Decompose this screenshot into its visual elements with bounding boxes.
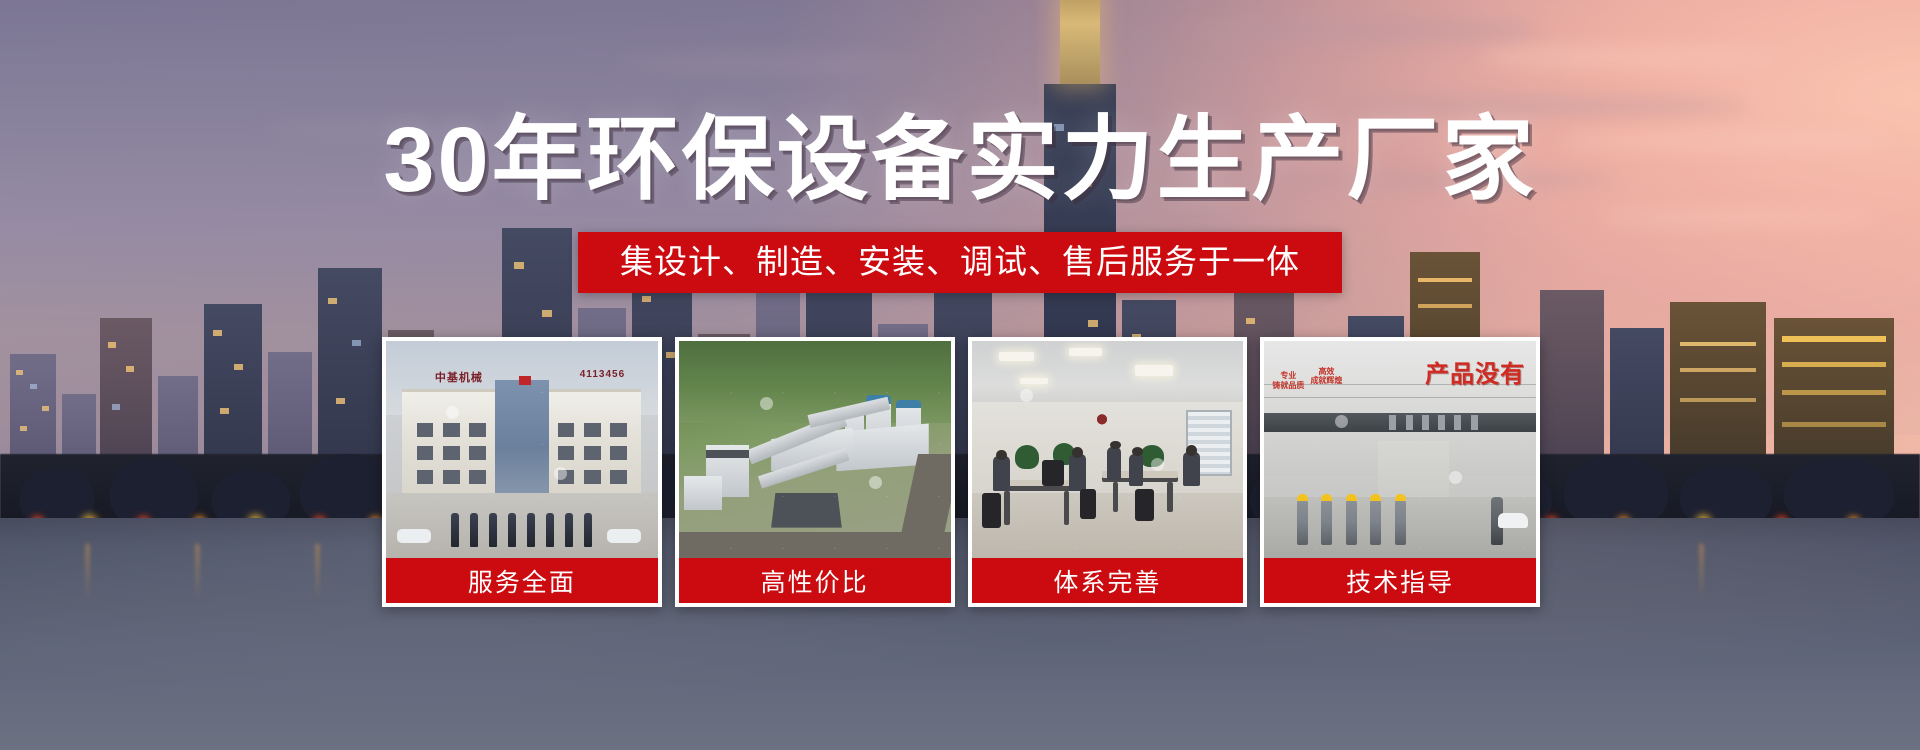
feature-card[interactable]: 产品没有 专业 铸就品质 高效 成就辉煌 bbox=[1260, 337, 1540, 607]
factory-slogan-2: 高效 bbox=[1318, 367, 1334, 376]
feature-card-row: 中基机械 4113456 服务全面 bbox=[382, 337, 1540, 607]
cloud bbox=[1180, 18, 1540, 44]
subtitle-banner: 集设计、制造、安装、调试、售后服务于一体 bbox=[578, 232, 1342, 293]
factory-slogan-1: 专业 bbox=[1280, 371, 1296, 380]
feature-card[interactable]: 高性价比 bbox=[675, 337, 955, 607]
cloud bbox=[620, 54, 920, 72]
feature-card[interactable]: 中基机械 4113456 服务全面 bbox=[382, 337, 662, 607]
card-label: 体系完善 bbox=[972, 558, 1244, 603]
card-photo-factory-workers: 产品没有 专业 铸就品质 高效 成就辉煌 bbox=[1264, 341, 1536, 558]
subtitle-container: 集设计、制造、安装、调试、售后服务于一体 bbox=[0, 232, 1920, 293]
factory-slogan-large: 产品没有 bbox=[1425, 354, 1525, 389]
card-photo-industrial-plant bbox=[679, 341, 951, 558]
building-sign-text: 中基机械 bbox=[435, 369, 483, 385]
tower-lit-crown bbox=[1060, 0, 1100, 84]
factory-slogan-1-sub: 铸就品质 bbox=[1272, 381, 1304, 390]
card-label: 高性价比 bbox=[679, 558, 951, 603]
building-phone-text: 4113456 bbox=[580, 369, 625, 380]
cloud bbox=[1600, 210, 1880, 226]
page-title: 30年环保设备实力生产厂家 bbox=[0, 112, 1920, 209]
card-label: 技术指导 bbox=[1264, 558, 1536, 603]
factory-slogan-2-sub: 成就辉煌 bbox=[1310, 376, 1342, 385]
feature-card[interactable]: 体系完善 bbox=[968, 337, 1248, 607]
hero-banner: 30年环保设备实力生产厂家 集设计、制造、安装、调试、售后服务于一体 bbox=[0, 0, 1920, 750]
card-label: 服务全面 bbox=[386, 558, 658, 603]
card-photo-office-interior bbox=[972, 341, 1244, 558]
cloud bbox=[1480, 46, 1780, 68]
card-photo-company-building: 中基机械 4113456 bbox=[386, 341, 658, 558]
